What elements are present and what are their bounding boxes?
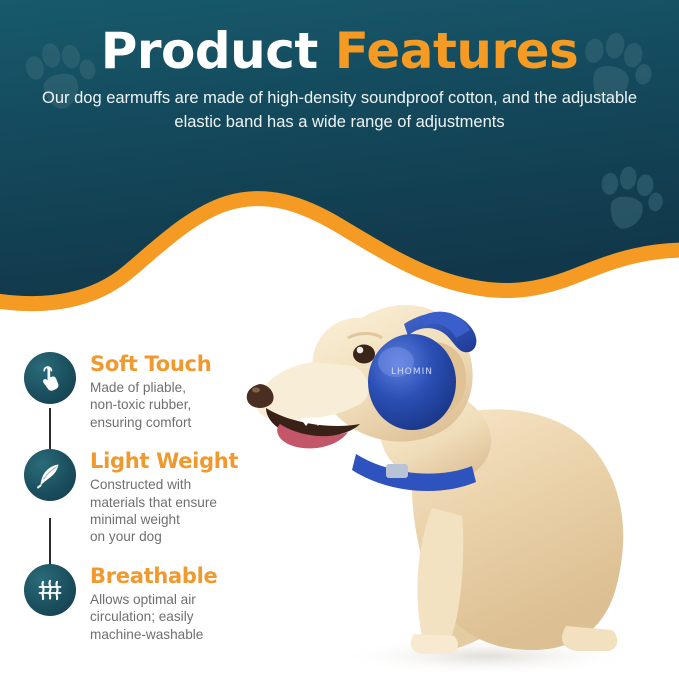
- airflow-lines-icon: [35, 575, 65, 605]
- feature-icon-circle: [24, 564, 76, 616]
- collar-buckle: [386, 464, 408, 478]
- feature-text: Light Weight Constructed with materials …: [78, 449, 238, 546]
- dog-paw-rear: [562, 626, 617, 651]
- feature-icon-wrap: [22, 449, 78, 501]
- feature-icon-circle: [24, 352, 76, 404]
- feather-icon: [35, 460, 65, 490]
- feature-description: Allows optimal air circulation; easily m…: [90, 591, 217, 643]
- feature-item-light-weight[interactable]: Light Weight Constructed with materials …: [22, 449, 312, 546]
- product-features-infographic: Product Features Our dog earmuffs are ma…: [0, 0, 679, 679]
- feature-connector-line: [49, 518, 51, 568]
- feature-text: Breathable Allows optimal air circulatio…: [78, 564, 217, 643]
- feature-text: Soft Touch Made of pliable, non-toxic ru…: [78, 352, 211, 431]
- title-word-features: Features: [335, 22, 579, 80]
- dog-eye: [353, 345, 375, 364]
- page-title: Product Features: [0, 0, 679, 77]
- dog-eye-highlight: [357, 347, 364, 354]
- earmuff-cup: [368, 334, 456, 430]
- title-word-product: Product: [101, 22, 318, 80]
- feature-icon-wrap: [22, 352, 78, 404]
- dog-paw-front: [411, 634, 458, 654]
- feature-title: Light Weight: [90, 450, 238, 472]
- feature-item-soft-touch[interactable]: Soft Touch Made of pliable, non-toxic ru…: [22, 352, 312, 431]
- feature-title: Breathable: [90, 565, 217, 587]
- tap-hand-icon: [35, 363, 65, 393]
- feature-description: Constructed with materials that ensure m…: [90, 476, 238, 546]
- feature-icon-circle: [24, 449, 76, 501]
- feature-icon-wrap: [22, 564, 78, 616]
- feature-title: Soft Touch: [90, 353, 211, 375]
- feature-item-breathable[interactable]: Breathable Allows optimal air circulatio…: [22, 564, 312, 643]
- header-text-block: Product Features Our dog earmuffs are ma…: [0, 0, 679, 135]
- feature-list: Soft Touch Made of pliable, non-toxic ru…: [22, 352, 312, 661]
- earmuff-brand-label: LHOMIN: [391, 367, 433, 377]
- subtitle: Our dog earmuffs are made of high-densit…: [35, 87, 645, 135]
- feature-connector-line: [49, 408, 51, 452]
- feature-description: Made of pliable, non-toxic rubber, ensur…: [90, 379, 211, 431]
